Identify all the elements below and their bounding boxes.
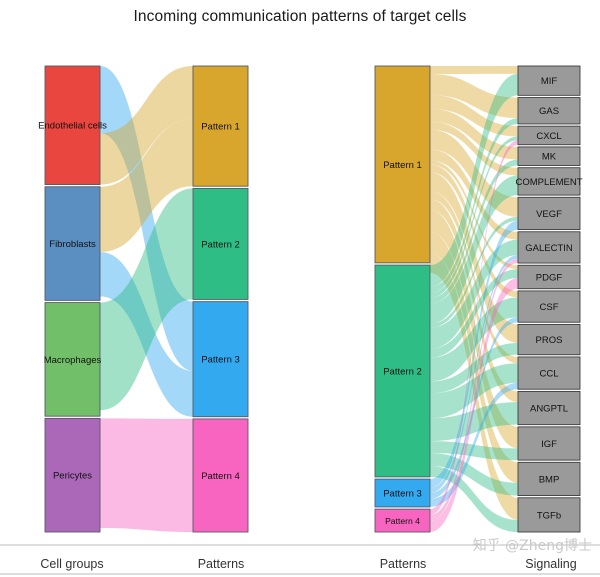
node-label: Pattern 4: [385, 516, 420, 526]
signaling-node-cxcl[interactable]: CXCL: [518, 126, 580, 145]
node-label: Pattern 1: [383, 160, 422, 171]
axis-label-right-target: Signaling: [525, 557, 576, 571]
node-label: CCL: [539, 368, 558, 379]
cell-group-endothelial-cells[interactable]: Endothelial cells: [38, 66, 107, 185]
right-pattern-nodes: Pattern 1Pattern 2Pattern 3Pattern 4: [375, 66, 430, 532]
signaling-node-vegf[interactable]: VEGF: [518, 197, 580, 229]
signaling-nodes: MIFGASCXCLMKCOMPLEMENTVEGFGALECTINPDGFCS…: [515, 66, 582, 532]
right-panel-ribbons: [430, 66, 518, 532]
cell-group-fibroblasts[interactable]: Fibroblasts: [45, 187, 100, 301]
ribbon-pericytes-to-pattern-4: [100, 418, 193, 532]
pattern-left-pattern-4[interactable]: Pattern 4: [193, 419, 248, 532]
node-label: Pericytes: [53, 471, 92, 482]
cell-group-nodes: Endothelial cellsFibroblastsMacrophagesP…: [38, 66, 107, 532]
ribbon-pattern-1-to-mif: [430, 66, 518, 74]
signaling-node-csf[interactable]: CSF: [518, 291, 580, 322]
watermark: 知乎 @Zheng博士: [473, 535, 592, 555]
node-label: CXCL: [536, 131, 561, 142]
node-label: VEGF: [536, 209, 562, 220]
node-label: MK: [542, 152, 557, 163]
pattern-right-pattern-3[interactable]: Pattern 3: [375, 479, 430, 507]
node-label: COMPLEMENT: [515, 177, 582, 188]
axis-label-left-source: Cell groups: [40, 557, 103, 571]
signaling-node-pros[interactable]: PROS: [518, 324, 580, 354]
pattern-left-pattern-3[interactable]: Pattern 3: [193, 302, 248, 417]
pattern-right-pattern-4[interactable]: Pattern 4: [375, 509, 430, 532]
node-label: Pattern 1: [201, 121, 240, 132]
axis-label-left-target: Patterns: [198, 557, 245, 571]
axis-label-right-source: Patterns: [380, 557, 427, 571]
pattern-left-pattern-2[interactable]: Pattern 2: [193, 188, 248, 299]
node-label: Pattern 3: [383, 488, 422, 499]
node-label: Pattern 2: [201, 239, 240, 250]
signaling-node-tgfb[interactable]: TGFb: [518, 498, 580, 532]
node-label: Fibroblasts: [49, 239, 96, 250]
pattern-right-pattern-1[interactable]: Pattern 1: [375, 66, 430, 263]
signaling-node-galectin[interactable]: GALECTIN: [518, 232, 580, 263]
node-label: Pattern 2: [383, 366, 422, 377]
signaling-node-igf[interactable]: IGF: [518, 427, 580, 460]
node-label: IGF: [541, 439, 557, 450]
signaling-node-mk[interactable]: MK: [518, 147, 580, 166]
signaling-node-complement[interactable]: COMPLEMENT: [515, 168, 582, 195]
node-label: GALECTIN: [525, 243, 573, 254]
pattern-left-pattern-1[interactable]: Pattern 1: [193, 66, 248, 186]
node-label: TGFb: [537, 510, 561, 521]
node-label: GAS: [539, 106, 559, 117]
cell-group-pericytes[interactable]: Pericytes: [45, 418, 100, 532]
node-label: Pattern 3: [201, 355, 240, 366]
node-label: MIF: [541, 76, 558, 87]
signaling-node-ccl[interactable]: CCL: [518, 357, 580, 389]
node-label: Macrophages: [44, 355, 102, 366]
node-label: CSF: [540, 302, 559, 313]
node-label: BMP: [539, 474, 560, 485]
sankey-diagram: Endothelial cellsFibroblastsMacrophagesP…: [0, 0, 600, 577]
left-pattern-nodes: Pattern 1Pattern 2Pattern 3Pattern 4: [193, 66, 248, 532]
node-label: PDGF: [536, 272, 563, 283]
pattern-right-pattern-2[interactable]: Pattern 2: [375, 265, 430, 477]
node-label: Pattern 4: [201, 471, 240, 482]
cell-group-macrophages[interactable]: Macrophages: [44, 303, 102, 417]
signaling-node-gas[interactable]: GAS: [518, 98, 580, 124]
node-label: Endothelial cells: [38, 121, 107, 132]
signaling-node-bmp[interactable]: BMP: [518, 462, 580, 495]
signaling-node-pdgf[interactable]: PDGF: [518, 265, 580, 288]
signaling-node-mif[interactable]: MIF: [518, 66, 580, 95]
left-panel-ribbons: [100, 66, 193, 532]
node-label: PROS: [536, 335, 563, 346]
signaling-node-angptl[interactable]: ANGPTL: [518, 391, 580, 424]
node-label: ANGPTL: [530, 403, 568, 414]
